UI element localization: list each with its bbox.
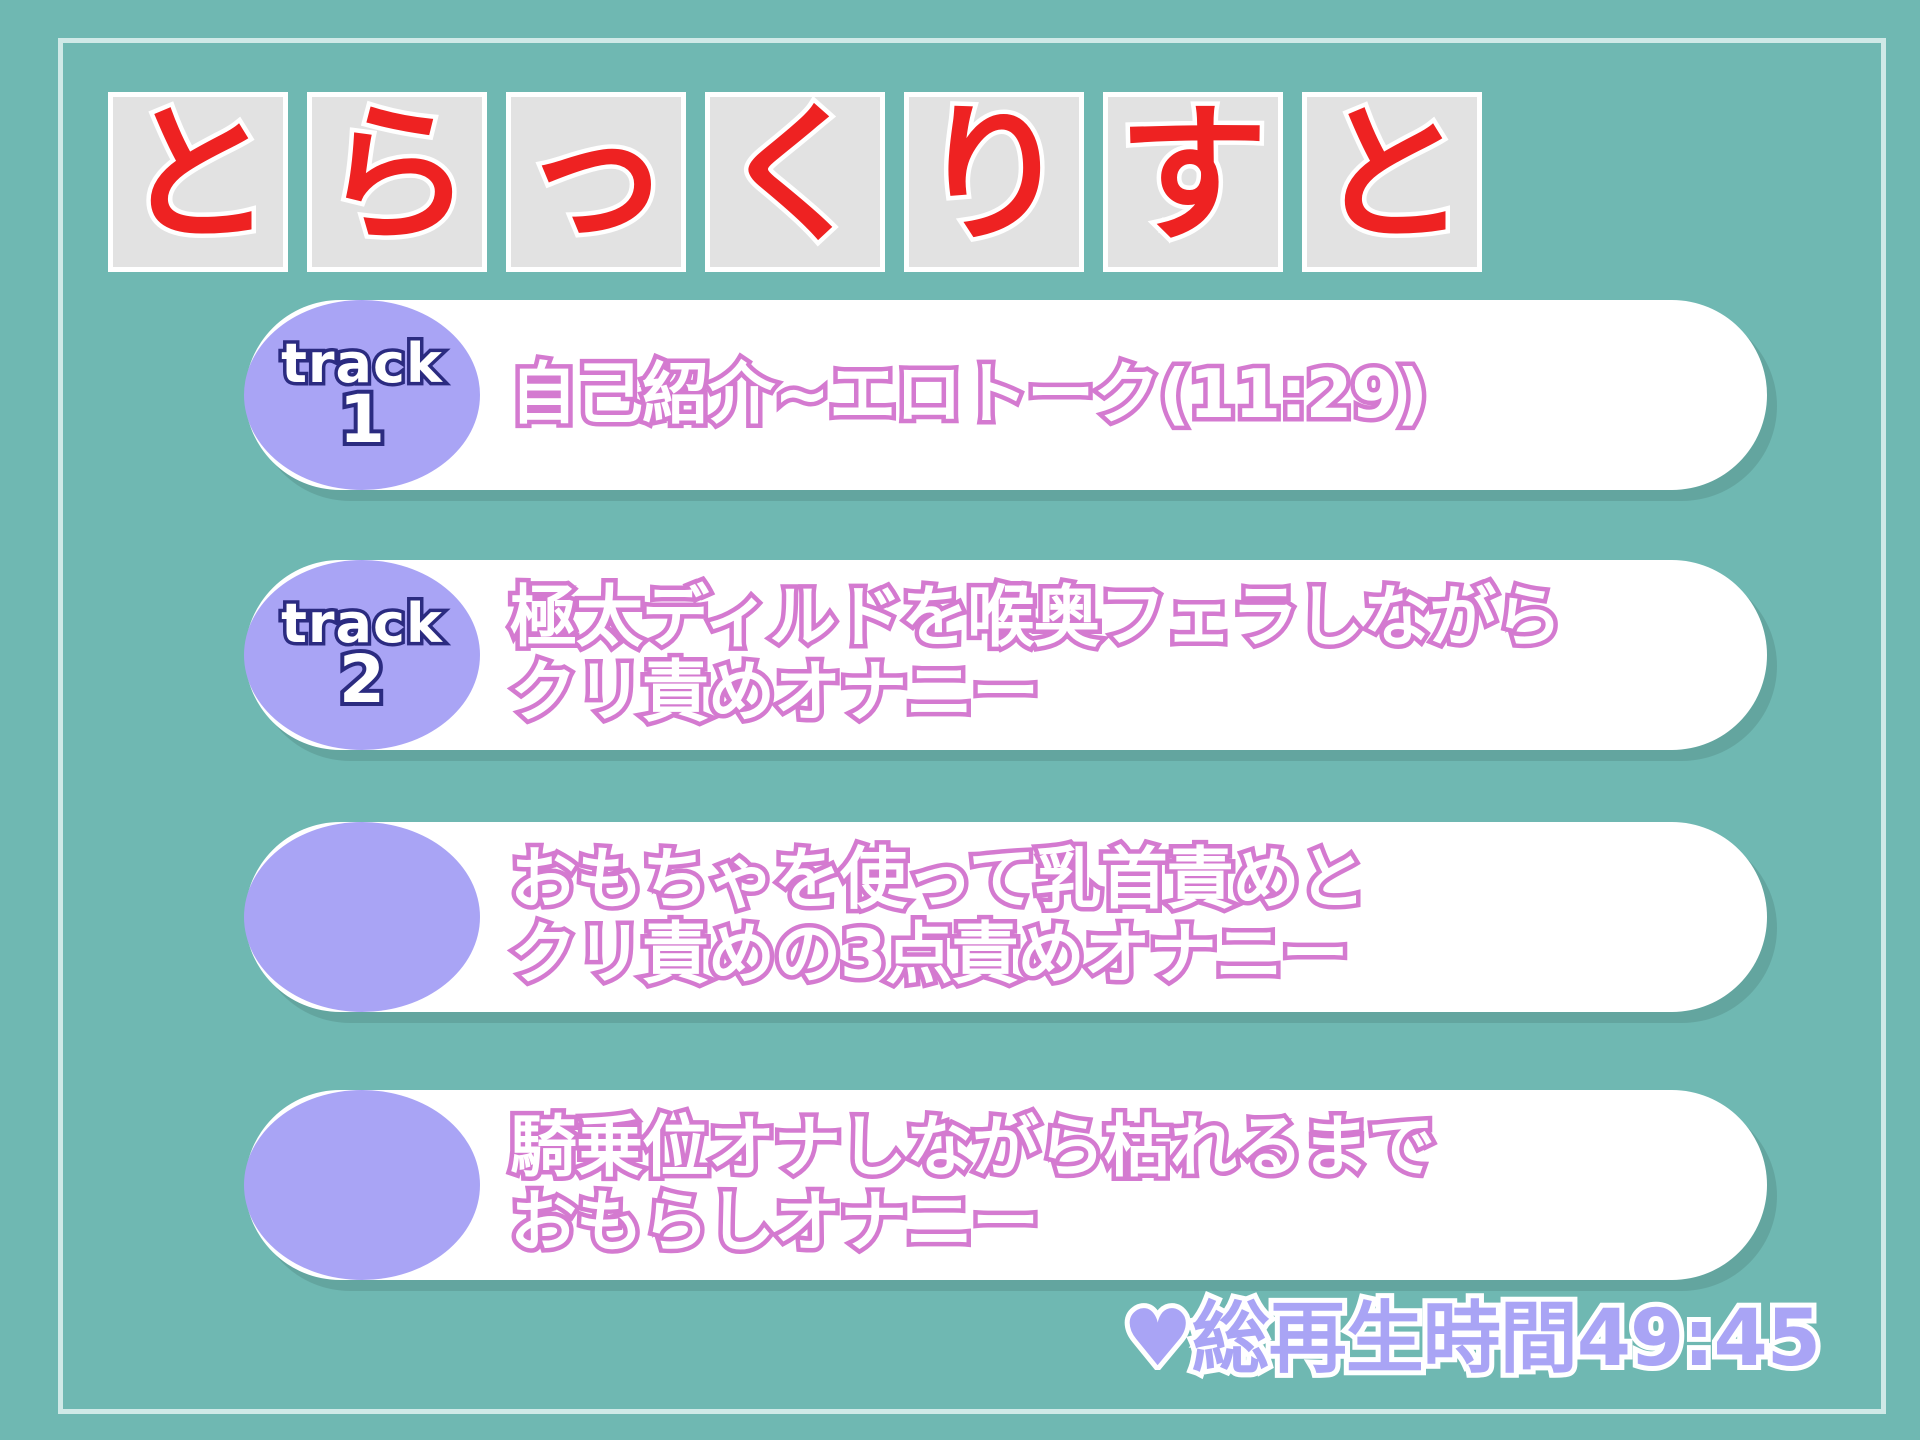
track-row: track 1 自己紹介~エロトーク(11:29) — [245, 300, 1767, 490]
total-playtime-label: 総再生時間 — [1192, 1300, 1577, 1378]
title-tile: す — [1103, 92, 1283, 272]
track-row: 騎乗位オナしながら枯れるまで おもらしオナニー — [245, 1090, 1767, 1280]
track-badge: track 2 — [244, 560, 480, 750]
track-row: おもちゃを使って乳首責めと クリ責めの3点責めオナニー — [245, 822, 1767, 1012]
title-char: っ — [521, 101, 671, 251]
title-tile: と — [108, 92, 288, 272]
title-char: く — [720, 101, 870, 251]
title-tile: っ — [506, 92, 686, 272]
track-badge: track 1 — [244, 300, 480, 490]
trackjlist-poster: と ら っ く り す と track 1 自己紹介~エロトーク(11:29) — [0, 0, 1920, 1440]
title-tile: と — [1302, 92, 1482, 272]
title-char: ら — [322, 101, 472, 251]
page-title: と ら っ く り す と — [108, 92, 1482, 272]
total-playtime: ♥総再生時間49:45 — [1123, 1300, 1820, 1378]
track-title-text: 騎乗位オナしながら枯れるまで おもらしオナニー — [510, 1110, 1434, 1260]
title-tile: り — [904, 92, 1084, 272]
track-row: track 2 極太ディルドを喉奥フェラしながら クリ責めオナニー — [245, 560, 1767, 750]
heart-icon: ♥ — [1123, 1300, 1192, 1378]
title-char: と — [1317, 101, 1467, 251]
total-playtime-value: 49:45 — [1577, 1300, 1820, 1378]
track-badge — [244, 1090, 480, 1280]
title-tile: く — [705, 92, 885, 272]
track-badge-number: 2 — [339, 649, 385, 712]
track-title-text: おもちゃを使って乳首責めと クリ責めの3点責めオナニー — [510, 842, 1365, 992]
title-tile: ら — [307, 92, 487, 272]
track-badge — [244, 822, 480, 1012]
title-char: と — [123, 101, 273, 251]
track-badge-number: 1 — [339, 389, 385, 452]
track-title-text: 自己紹介~エロトーク(11:29) — [510, 357, 1427, 432]
title-char: り — [919, 101, 1069, 251]
track-title-text: 極太ディルドを喉奥フェラしながら クリ責めオナニー — [510, 580, 1561, 730]
title-char: す — [1118, 101, 1268, 251]
